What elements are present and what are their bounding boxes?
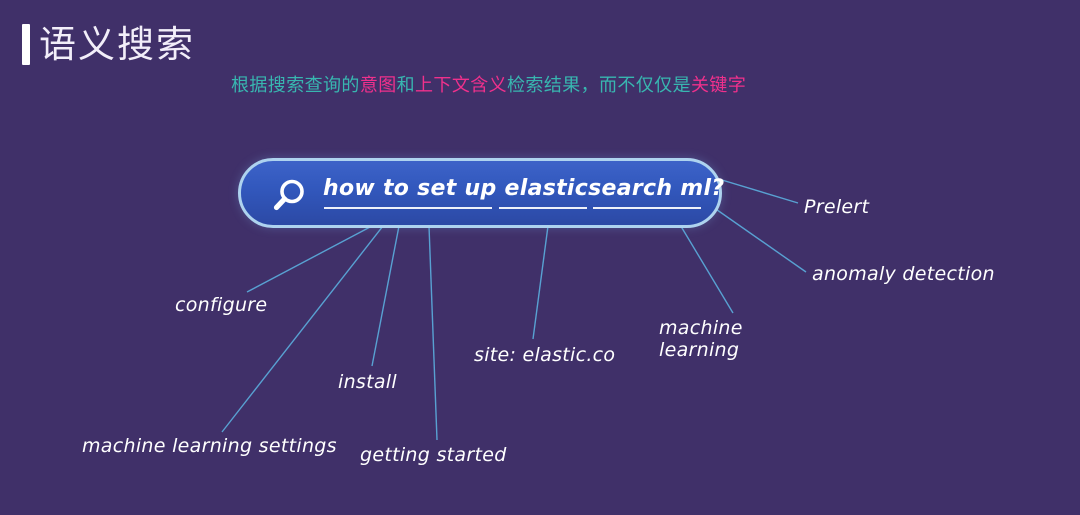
annotation-ml-settings: machine learning settings [82,435,337,457]
subtitle-segment-3: 和 [397,75,415,96]
query-underline-segment [499,207,587,209]
search-icon[interactable] [269,176,309,216]
search-query-text: how to set up elasticsearch ml? [323,174,701,204]
connector-configure [247,226,372,292]
annotation-prelert: Prelert [804,196,869,218]
connector-install [372,226,399,366]
subtitle-segment-6: 关键字 [691,75,746,96]
query-underline-segment [593,207,701,209]
title-accent-bar [22,24,30,65]
subtitle-segment-2: 意图 [360,75,397,96]
connector-prelert [712,177,798,203]
page-title-block: 语义搜索 [22,24,195,65]
query-underline-segment [324,207,492,209]
page-title: 语义搜索 [39,24,195,65]
search-input[interactable]: how to set up elasticsearch ml? [323,174,701,218]
annotation-site-elastic: site: elastic.co [474,344,615,366]
subtitle: 根据搜索查询的意图和上下文含义检索结果，而不仅仅是关键字 [231,74,746,98]
connector-site-elastic [533,226,548,339]
annotation-machine-learning: machine learning [659,317,743,361]
subtitle-segment-1: 根据搜索查询的 [231,75,360,96]
subtitle-segment-5: 检索结果，而不仅仅是 [507,75,691,96]
connector-getting-started [429,226,437,440]
connector-ml-settings [222,226,383,432]
subtitle-segment-4: 上下文含义 [415,75,507,96]
slide-canvas: 语义搜索 根据搜索查询的意图和上下文含义检索结果，而不仅仅是关键字 [0,0,1080,515]
annotation-install: install [338,371,397,393]
annotation-configure: configure [175,294,267,316]
connector-machine-learning [676,218,733,313]
annotation-getting-started: getting started [360,444,507,466]
annotation-anomaly-detection: anomaly detection [812,263,995,285]
search-bar[interactable]: how to set up elasticsearch ml? [238,158,722,228]
